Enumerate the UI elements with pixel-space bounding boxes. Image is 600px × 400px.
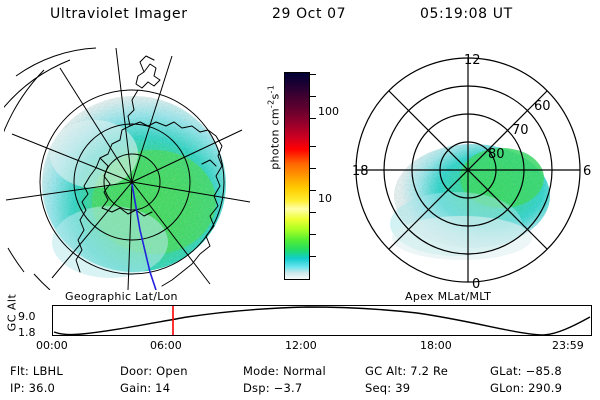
status-footer: Flt: LBHL Door: Open Mode: Normal GC Alt… (0, 360, 600, 400)
status-filter: Flt: LBHL (10, 364, 63, 378)
orbit-y-axis-label: GC Alt (6, 289, 19, 337)
colorbar-tick (310, 234, 316, 235)
status-ip: IP: 36.0 (10, 381, 55, 395)
orbit-xtick: 18:00 (420, 339, 452, 352)
observation-date: 29 Oct 07 (272, 6, 346, 22)
colorbar-tick (310, 74, 316, 75)
orbit-xtick: 00:00 (36, 339, 68, 352)
colorbar-axis-label: photon cm-2s-1 (267, 67, 282, 187)
apex-polar-svg: 12 6 0 18 60 70 80 (336, 38, 596, 290)
mlt-label-0: 0 (472, 277, 480, 290)
status-dsp: Dsp: −3.7 (243, 381, 302, 395)
colorbar-tick (310, 118, 316, 119)
colorbar-unit-mid: s (268, 93, 281, 99)
aurora-emission-region (42, 96, 226, 278)
orbit-xtick: 06:00 (150, 339, 182, 352)
orbit-xtick: 12:00 (285, 339, 317, 352)
mlat-label-60: 60 (534, 99, 551, 114)
status-seq: Seq: 39 (365, 381, 410, 395)
instrument-title: Ultraviolet Imager (50, 6, 188, 22)
status-gain: Gain: 14 (120, 381, 170, 395)
orbit-plot-svg (52, 305, 592, 336)
mlat-label-80: 80 (488, 147, 505, 162)
colorbar-unit-exp1: -2 (267, 100, 276, 109)
mlt-label-18: 18 (352, 164, 369, 179)
orbit-altitude-strip[interactable]: GC Alt Geographic Lat/Lon Apex MLat/MLT … (0, 290, 600, 356)
status-glat: GLat: −85.8 (490, 364, 562, 378)
colorbar-legend: photon cm-2s-1 100 10 (248, 34, 336, 290)
mlt-label-12: 12 (464, 53, 481, 68)
colorbar-tick (310, 96, 316, 97)
apex-polar-panel[interactable]: 12 6 0 18 60 70 80 (336, 38, 596, 290)
colorbar-tick (310, 168, 316, 169)
status-door: Door: Open (120, 364, 188, 378)
colorbar-tick (310, 190, 316, 191)
header-bar: Ultraviolet Imager 29 Oct 07 05:19:08 UT (0, 4, 600, 30)
status-mode: Mode: Normal (243, 364, 326, 378)
colorbar-gradient (284, 72, 310, 280)
orbit-xtick: 23:59 (552, 339, 584, 352)
orbit-title-geographic: Geographic Lat/Lon (65, 290, 178, 303)
orbit-ytick-low: 1.8 (18, 327, 36, 338)
mlat-label-70: 70 (512, 123, 529, 138)
geographic-plot-svg (4, 34, 252, 290)
colorbar-unit-main: photon cm (268, 108, 281, 170)
observation-time: 05:19:08 UT (420, 6, 513, 22)
status-gc-alt: GC Alt: 7.2 Re (365, 364, 448, 378)
colorbar-tick (310, 212, 316, 213)
geographic-image-panel[interactable] (4, 34, 252, 290)
colorbar-tick (310, 146, 316, 147)
orbit-plot-box[interactable] (52, 305, 592, 336)
orbit-title-apex: Apex MLat/MLT (405, 290, 491, 303)
colorbar-label-10: 10 (318, 193, 332, 204)
orbit-ytick-high: 9.0 (18, 311, 36, 322)
colorbar-tick (310, 256, 316, 257)
mlt-spokes (356, 58, 580, 282)
aurora-oval-region (390, 144, 550, 260)
status-glon: GLon: 290.9 (490, 381, 562, 395)
mlt-label-6: 6 (583, 164, 591, 179)
colorbar-label-100: 100 (318, 106, 339, 117)
colorbar-unit-exp2: -1 (267, 85, 276, 94)
